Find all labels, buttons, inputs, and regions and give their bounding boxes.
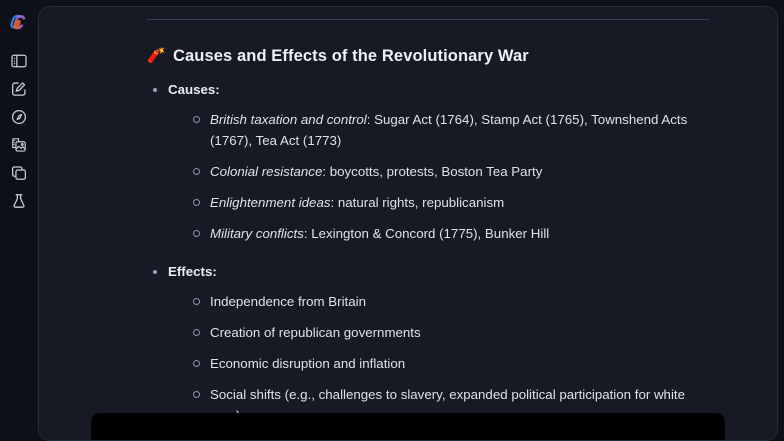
media-gallery-icon <box>10 136 28 154</box>
term-colonial-resistance: Colonial resistance <box>210 164 322 179</box>
firecracker-emoji: 🧨 <box>147 48 164 65</box>
list-item-effects: Effects: Independence from Britain Creat… <box>147 262 709 426</box>
sidebar-item-pages[interactable] <box>4 159 34 187</box>
list-item: Independence from Britain <box>189 291 709 312</box>
group-label-effects: Effects: <box>147 262 709 282</box>
sidebar-toggle-icon <box>10 52 28 70</box>
list-item-causes: Causes: British taxation and control: Su… <box>147 80 709 244</box>
compass-discover-icon <box>10 108 28 126</box>
left-rail <box>0 0 38 441</box>
list-item: Colonial resistance: boycotts, protests,… <box>189 161 709 182</box>
copilot-logo[interactable] <box>8 11 30 33</box>
sidebar-item-labs[interactable] <box>4 187 34 215</box>
term-detail: : Lexington & Concord (1775), Bunker Hil… <box>304 226 549 241</box>
section-heading-causes-effects: 🧨 Causes and Effects of the Revolutionar… <box>147 47 709 66</box>
section-divider-top <box>147 19 709 20</box>
term-detail: : boycotts, protests, Boston Tea Party <box>322 164 542 179</box>
effect-independence: Independence from Britain <box>210 294 366 309</box>
sidebar-item-discover[interactable] <box>4 103 34 131</box>
effect-economic-disruption: Economic disruption and inflation <box>210 356 405 371</box>
list-item: British taxation and control: Sugar Act … <box>189 109 709 151</box>
term-detail: : natural rights, republicanism <box>331 195 505 210</box>
sidebar-item-toggle-sidebar[interactable] <box>4 47 34 75</box>
list-item: Economic disruption and inflation <box>189 353 709 374</box>
media-embed-block[interactable] <box>91 413 725 441</box>
list-item: Creation of republican governments <box>189 322 709 343</box>
term-british-taxation: British taxation and control <box>210 112 367 127</box>
sidebar-item-new-note[interactable] <box>4 75 34 103</box>
effect-republican-governments: Creation of republican governments <box>210 325 421 340</box>
sidebar-item-media[interactable] <box>4 131 34 159</box>
pages-copy-icon <box>10 164 28 182</box>
document-body[interactable]: 🧨 Causes and Effects of the Revolutionar… <box>39 7 777 440</box>
list-item: Enlightenment ideas: natural rights, rep… <box>189 192 709 213</box>
group-label-causes: Causes: <box>147 80 709 100</box>
causes-list: Causes: British taxation and control: Su… <box>147 80 709 426</box>
lab-flask-icon <box>10 192 28 210</box>
compose-note-icon <box>10 80 28 98</box>
term-enlightenment-ideas: Enlightenment ideas <box>210 195 331 210</box>
app-window: 🧨 Causes and Effects of the Revolutionar… <box>0 0 784 441</box>
causes-sublist: British taxation and control: Sugar Act … <box>147 109 709 244</box>
effects-sublist: Independence from Britain Creation of re… <box>147 291 709 426</box>
term-military-conflicts: Military conflicts <box>210 226 304 241</box>
section-title-text: Causes and Effects of the Revolutionary … <box>173 47 529 66</box>
list-item: Military conflicts: Lexington & Concord … <box>189 223 709 244</box>
content-panel: 🧨 Causes and Effects of the Revolutionar… <box>38 6 778 441</box>
